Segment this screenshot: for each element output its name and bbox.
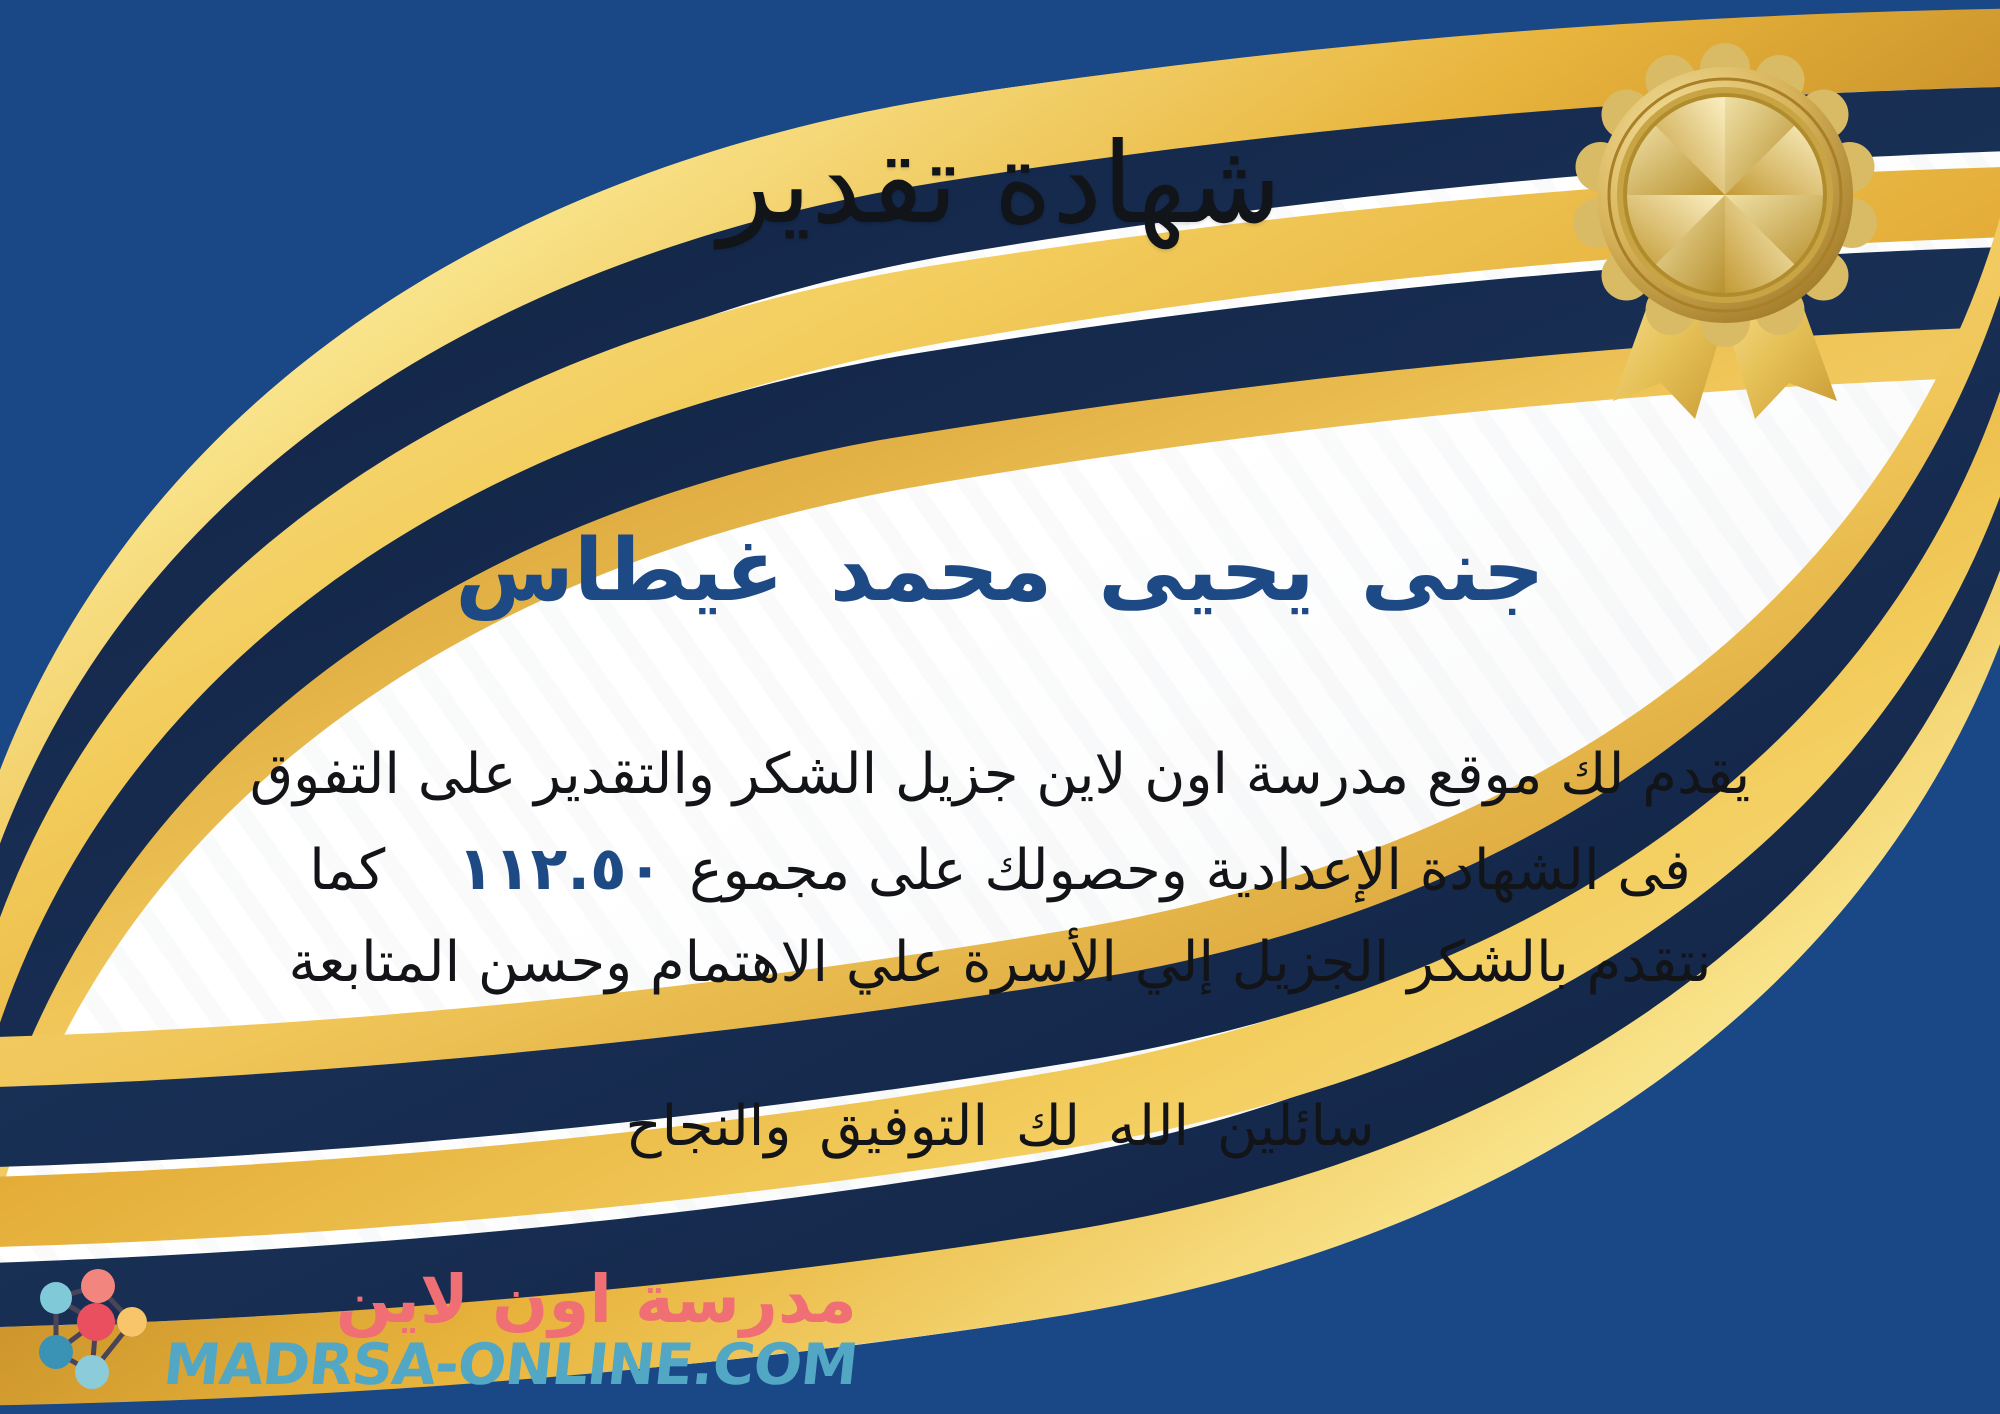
body-line-2-suffix: كما: [309, 838, 385, 903]
body-line-2: فى الشهادة الإعدادية وحصولك على مجموع١١٢…: [60, 821, 1940, 918]
network-nodes-icon: [26, 1260, 150, 1400]
body-line-3: نتقدم بالشكر الجزيل إلي الأسرة علي الاهت…: [60, 918, 1940, 1009]
brand-text: مدرسة اون لاين MADRSA-ONLINE.COM: [164, 1267, 857, 1394]
body-line-1: يقدم لك موقع مدرسة اون لاين جزيل الشكر و…: [60, 730, 1940, 821]
page-title: شهادة تقدير: [0, 118, 2000, 250]
certificate-canvas: شهادة تقدير جنى يحيى محمد غيطاس يقدم لك …: [0, 0, 2000, 1414]
recipient-name: جنى يحيى محمد غيطاس: [0, 520, 2000, 623]
brand-logo[interactable]: مدرسة اون لاين MADRSA-ONLINE.COM: [26, 1260, 857, 1400]
brand-website: MADRSA-ONLINE.COM: [161, 1337, 860, 1394]
brand-name-arabic: مدرسة اون لاين: [336, 1267, 857, 1333]
certificate-body: يقدم لك موقع مدرسة اون لاين جزيل الشكر و…: [60, 730, 1940, 1009]
closing-wish: سائلين الله لك التوفيق والنجاح: [0, 1085, 2000, 1169]
total-score-value: ١١٢.٥٠: [431, 834, 689, 904]
body-line-2-prefix: فى الشهادة الإعدادية وحصولك على مجموع: [689, 838, 1691, 903]
